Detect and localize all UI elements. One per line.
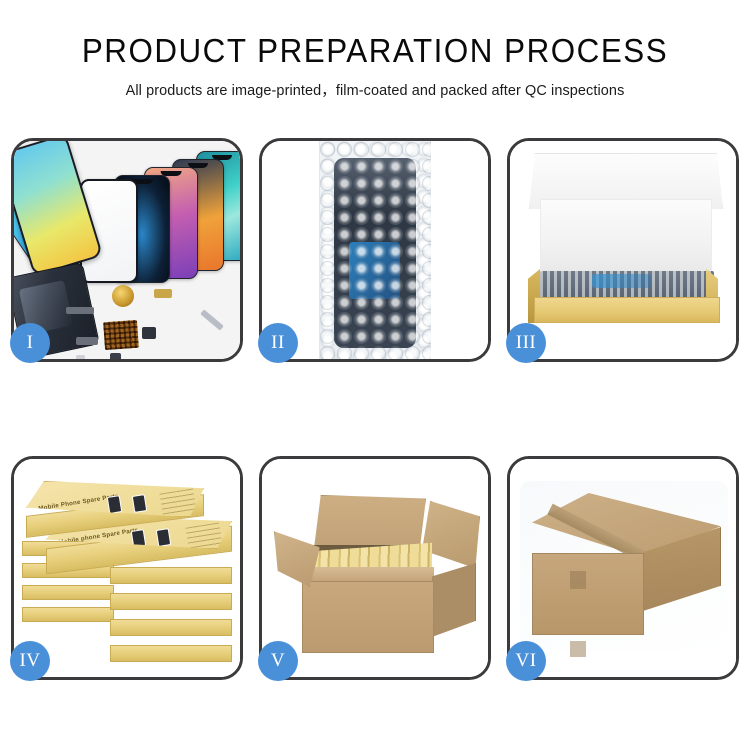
- box-front-panel-graphic: [534, 297, 720, 323]
- step-panel-3: III: [507, 138, 739, 362]
- sealed-carton-scene: [510, 459, 736, 677]
- bubble-wrap-scene: [262, 141, 488, 359]
- page-subtitle: All products are image-printed，film-coat…: [4, 79, 747, 100]
- page-title: PRODUCT PREPARATION PROCESS: [19, 34, 732, 69]
- box-label-checklist-graphic: [159, 488, 196, 515]
- tweezers-tool-graphic: [200, 309, 224, 330]
- carton-seam-tab-graphic: [570, 571, 586, 589]
- foam-lining-graphic: [540, 199, 712, 273]
- step-panel-4: Mobile phone Spare Parts Mobile Phone Sp…: [11, 456, 243, 680]
- camera-module-graphic: [142, 327, 156, 339]
- wrapped-phone-part-graphic: [334, 158, 416, 348]
- carton-front-panel-graphic: [302, 581, 434, 653]
- header: PRODUCT PREPARATION PROCESS All products…: [0, 0, 750, 100]
- carton-front-panel-graphic: [532, 553, 644, 635]
- step-badge-3: III: [506, 323, 546, 363]
- stacked-box-graphic: [22, 607, 114, 622]
- stacked-box-graphic: [110, 593, 232, 610]
- stacked-box-graphic: [22, 585, 114, 600]
- wrapped-parts-in-box-graphic: [540, 271, 714, 299]
- part-blue-accent-graphic: [349, 242, 400, 299]
- carton-seam-tab-graphic: [570, 641, 586, 657]
- stacked-box-graphic: [110, 619, 232, 636]
- step-badge-6: VI: [506, 641, 546, 681]
- box-label-checklist-graphic: [185, 522, 222, 549]
- step-image-5: [262, 459, 488, 677]
- box-label-screen-icon: [131, 494, 146, 513]
- step-image-4: Mobile phone Spare Parts Mobile Phone Sp…: [14, 459, 240, 677]
- screw-part-graphic: [76, 355, 85, 359]
- connector-part-graphic: [154, 289, 172, 298]
- open-carton-scene: [262, 459, 488, 677]
- battery-connector-graphic: [110, 353, 121, 359]
- gold-coil-part-graphic: [112, 285, 134, 307]
- step-panel-5: V: [259, 456, 491, 680]
- box-label-screen-icon: [156, 528, 171, 547]
- process-steps-grid: I II: [11, 138, 739, 680]
- step-badge-4: IV: [10, 641, 50, 681]
- phone-parts-scene: [14, 141, 240, 359]
- step-panel-2: II: [259, 138, 491, 362]
- step-image-2: [262, 141, 488, 359]
- box-label-screen-icon: [107, 495, 122, 514]
- step-badge-5: V: [258, 641, 298, 681]
- flex-cable-part-graphic: [66, 307, 94, 314]
- stacked-box-graphic: [110, 567, 232, 584]
- product-preparation-infographic: PRODUCT PREPARATION PROCESS All products…: [0, 0, 750, 750]
- small-part-graphic: [76, 337, 98, 345]
- box-label-text: Mobile Phone Spare Parts: [37, 493, 118, 513]
- step-badge-2: II: [258, 323, 298, 363]
- step-image-6: [510, 459, 736, 677]
- step-badge-1: I: [10, 323, 50, 363]
- step-image-1: [14, 141, 240, 359]
- step-panel-1: I: [11, 138, 243, 362]
- carton-side-panel-graphic: [432, 563, 476, 637]
- stacked-box-graphic: [110, 645, 232, 662]
- stacked-boxes-scene: Mobile phone Spare Parts Mobile Phone Sp…: [14, 459, 240, 677]
- step-image-3: [510, 141, 736, 359]
- ic-chip-grid-graphic: [103, 320, 139, 350]
- open-inner-box-scene: [510, 141, 736, 359]
- step-panel-6: VI: [507, 456, 739, 680]
